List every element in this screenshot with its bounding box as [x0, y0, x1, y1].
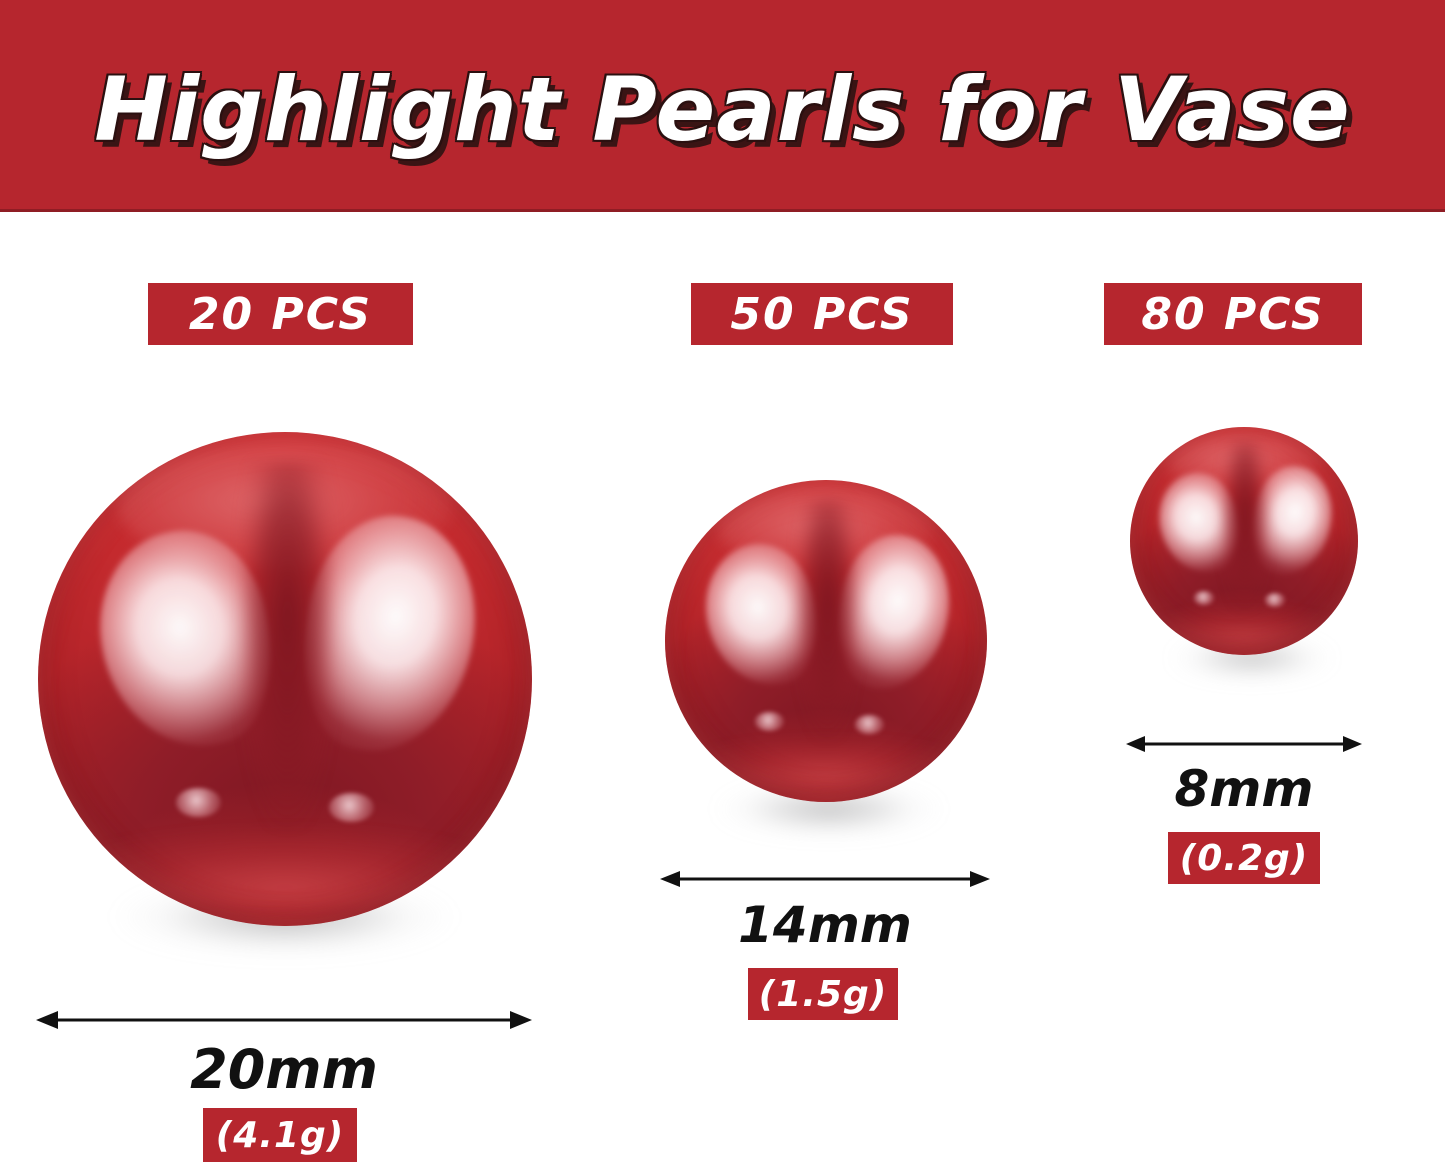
- dimension-arrow-large: [36, 1008, 532, 1032]
- pearl-image-medium: [665, 480, 987, 802]
- pearl-inner-shading: [665, 480, 987, 802]
- pearl-body: [38, 432, 532, 926]
- weight-badge-large: (4.1g): [203, 1108, 357, 1162]
- dimension-label-medium: 14mm: [660, 896, 990, 954]
- weight-badge-label: (0.2g): [1180, 838, 1308, 879]
- count-badge-label: 50 PCS: [730, 289, 913, 340]
- pearl-body: [665, 480, 987, 802]
- weight-badge-label: (1.5g): [759, 974, 887, 1015]
- dimension-arrow-small: [1126, 733, 1362, 755]
- count-badge-label: 20 PCS: [189, 289, 372, 340]
- dimension-arrow-medium: [660, 868, 990, 890]
- weight-badge-small: (0.2g): [1168, 832, 1320, 884]
- pearl-image-small: [1130, 427, 1358, 655]
- count-badge-20pcs: 20 PCS: [148, 283, 413, 345]
- page-title: Highlight Pearls for Vase: [0, 58, 1445, 161]
- count-badge-50pcs: 50 PCS: [691, 283, 953, 345]
- dimension-label-large: 20mm: [36, 1038, 532, 1101]
- weight-badge-medium: (1.5g): [748, 968, 898, 1020]
- weight-badge-label: (4.1g): [216, 1115, 344, 1156]
- product-infographic: Highlight Pearls for Vase 20 PCS 20mm (4…: [0, 0, 1445, 1172]
- pearl-inner-shading: [38, 432, 532, 926]
- pearl-body: [1130, 427, 1358, 655]
- count-badge-80pcs: 80 PCS: [1104, 283, 1362, 345]
- dimension-label-small: 8mm: [1126, 760, 1362, 818]
- count-badge-label: 80 PCS: [1141, 289, 1324, 340]
- pearl-image-large: [38, 432, 532, 926]
- pearl-inner-shading: [1130, 427, 1358, 655]
- header-banner: Highlight Pearls for Vase: [0, 0, 1445, 212]
